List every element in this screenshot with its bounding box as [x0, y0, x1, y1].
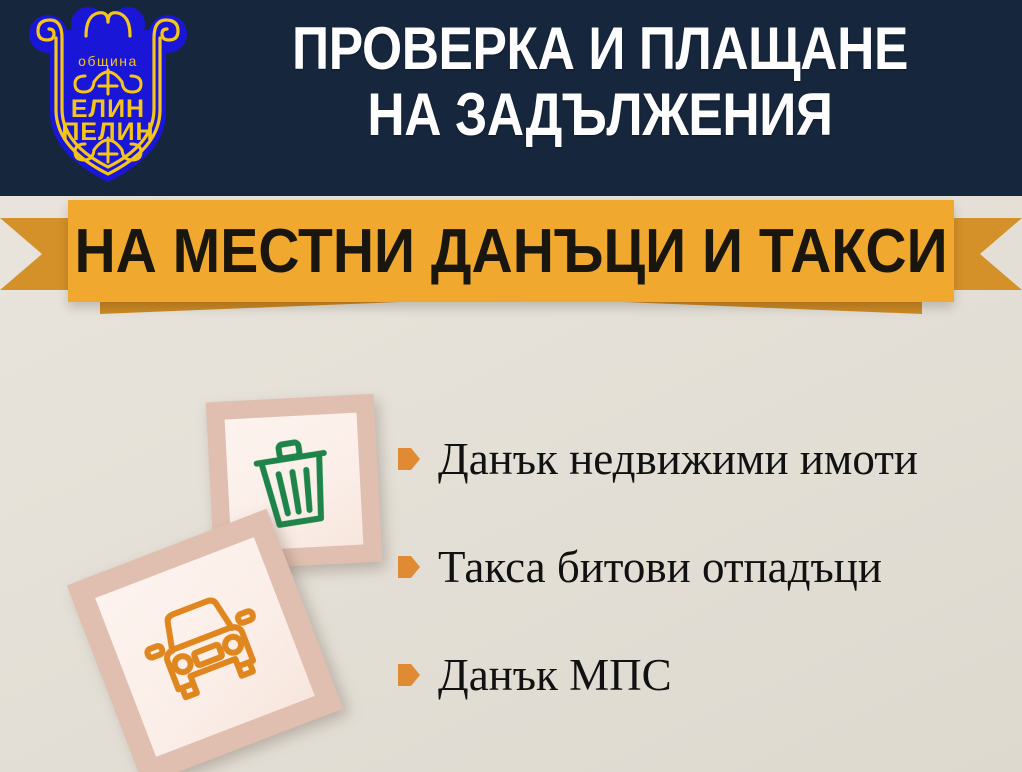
arrow-bullet-icon [398, 554, 420, 580]
stamp-scallop-border [4, 302, 237, 535]
list-item[interactable]: Такса битови отпадъци [398, 538, 1018, 596]
page-title: ПРОВЕРКА И ПЛАЩАНЕ НА ЗАДЪЛЖЕНИЯ [243, 16, 957, 148]
house-icon [57, 360, 183, 476]
car-front-icon [131, 579, 279, 715]
poster-canvas: ПРОВЕРКА И ПЛАЩАНЕ НА ЗАДЪЛЖЕНИЯ [0, 0, 1022, 772]
stamp-card-property [4, 302, 237, 535]
ribbon-panel: НА МЕСТНИ ДАНЪЦИ И ТАКСИ [68, 200, 954, 302]
ribbon-banner: НА МЕСТНИ ДАНЪЦИ И ТАКСИ [0, 196, 1022, 312]
list-item[interactable]: Данък недвижими имоти [398, 430, 1018, 488]
logo-line-small: община [78, 53, 138, 69]
municipality-logo: община ЕЛИН ПЕЛИН [28, 4, 188, 189]
list-item-label: Данък МПС [438, 650, 672, 700]
logo-line-2: ПЕЛИН [61, 118, 154, 146]
tax-types-list: Данък недвижими имоти Такса битови отпад… [398, 430, 1018, 754]
list-item[interactable]: Данък МПС [398, 646, 1018, 704]
list-item-label: Такса битови отпадъци [438, 542, 882, 592]
arrow-bullet-icon [398, 662, 420, 688]
arrow-bullet-icon [398, 446, 420, 472]
list-item-label: Данък недвижими имоти [438, 434, 918, 484]
ribbon-label: НА МЕСТНИ ДАНЪЦИ И ТАКСИ [103, 200, 918, 302]
stamp-paper-property [28, 326, 213, 511]
